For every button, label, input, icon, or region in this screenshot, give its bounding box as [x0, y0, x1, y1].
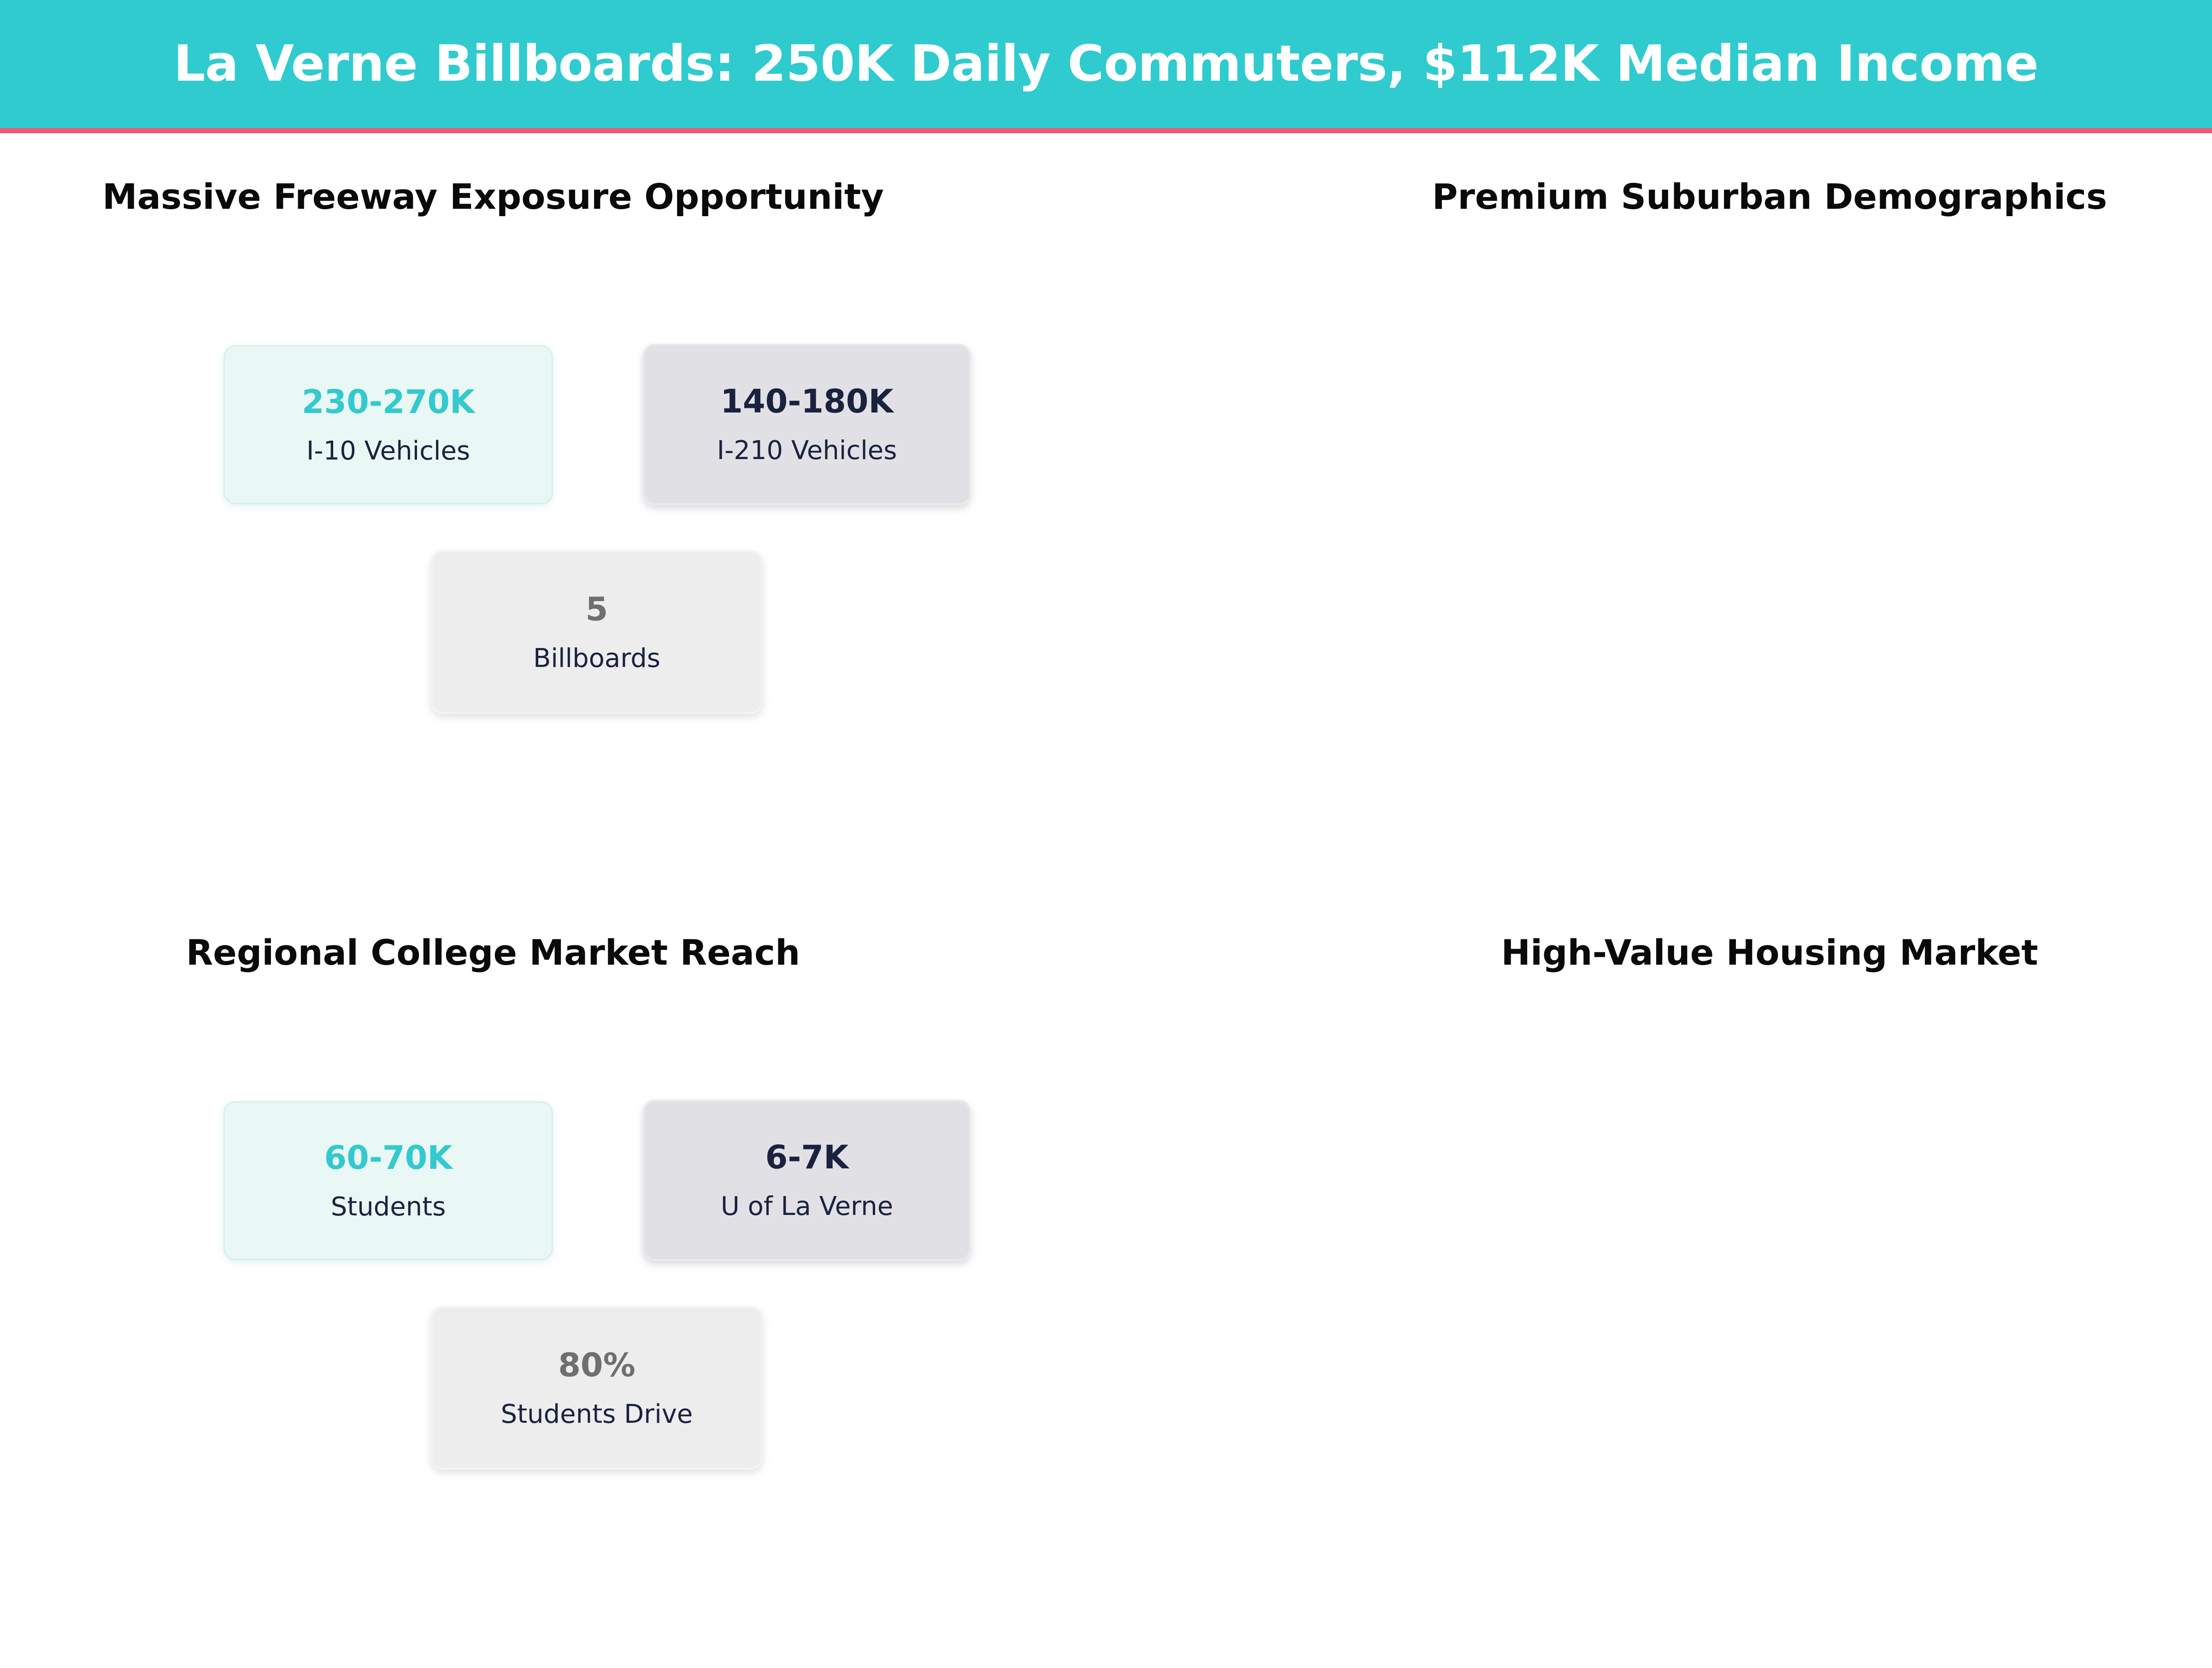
- metric-value: 6-7K: [765, 1141, 849, 1173]
- metric-label: Students: [331, 1194, 446, 1220]
- metric-card[interactable]: 80% Students Drive: [431, 1306, 763, 1470]
- metric-card[interactable]: 230-270K I-10 Vehicles: [224, 345, 553, 504]
- metric-value: 230-270K: [302, 386, 475, 418]
- metrics-board: Massive Freeway Exposure Opportunity 230…: [0, 133, 2212, 1668]
- sections-row-bottom: Regional College Market Reach 60-70K Stu…: [0, 912, 2212, 1668]
- metric-card[interactable]: 60-70K Students: [224, 1101, 553, 1260]
- section-title: Massive Freeway Exposure Opportunity: [0, 179, 986, 214]
- metric-label: U of La Verne: [721, 1194, 893, 1220]
- sections-row-top: Massive Freeway Exposure Opportunity 230…: [0, 156, 2212, 912]
- metric-card[interactable]: 6-7K U of La Verne: [643, 1100, 971, 1261]
- section-title: High-Value Housing Market: [1277, 935, 2212, 970]
- metric-value: 140-180K: [720, 385, 894, 418]
- section-title: Premium Suburban Demographics: [1277, 179, 2212, 214]
- section-housing-market: High-Value Housing Market $800-900K Home…: [1106, 912, 2212, 1668]
- metric-label: I-10 Vehicles: [306, 438, 470, 464]
- metric-value: 60-70K: [324, 1142, 452, 1174]
- metric-card[interactable]: 5 Billboards: [431, 550, 763, 714]
- section-college-market: Regional College Market Reach 60-70K Stu…: [0, 912, 1106, 1668]
- metric-label: Students Drive: [501, 1402, 693, 1427]
- page-title: La Verne Billboards: 250K Daily Commuter…: [174, 39, 2039, 89]
- page-header: La Verne Billboards: 250K Daily Commuter…: [0, 0, 2212, 128]
- metric-value: 5: [586, 593, 608, 625]
- metric-value: 80%: [558, 1349, 635, 1381]
- metric-label: I-210 Vehicles: [717, 438, 897, 464]
- section-suburban-demographics: Premium Suburban Demographics $110-115K …: [1106, 156, 2212, 912]
- metric-label: Billboards: [533, 646, 660, 672]
- header-accent-bar: [0, 128, 2212, 133]
- metric-card[interactable]: 140-180K I-210 Vehicles: [643, 344, 971, 505]
- section-freeway-exposure: Massive Freeway Exposure Opportunity 230…: [0, 156, 1106, 912]
- section-title: Regional College Market Reach: [0, 935, 986, 970]
